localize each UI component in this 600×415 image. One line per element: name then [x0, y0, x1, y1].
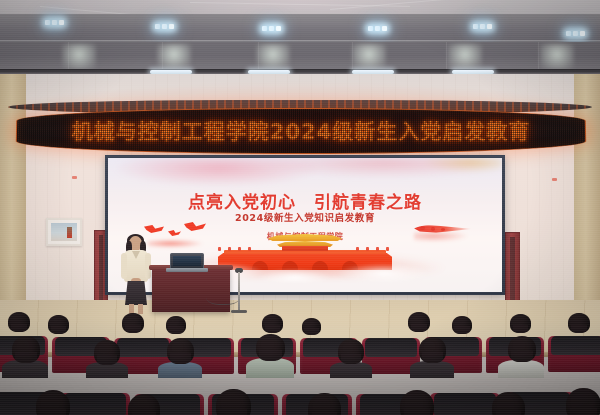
bird-shape	[144, 225, 164, 233]
audience-member	[36, 390, 70, 415]
audience-member	[510, 314, 531, 333]
bird-splash	[148, 239, 204, 248]
ceiling-spotlight-icon	[473, 24, 492, 29]
audience-shoulders	[330, 362, 372, 378]
side-door-right[interactable]	[505, 232, 520, 310]
door-inner-panel	[99, 235, 103, 303]
audience-member	[122, 313, 144, 333]
auditorium-seat[interactable]	[60, 393, 130, 415]
audience-member	[128, 394, 160, 415]
seat-back	[551, 336, 600, 355]
audience-member	[166, 316, 186, 334]
audience-member	[568, 313, 590, 333]
laptop-keyboard-base	[166, 268, 208, 272]
ceiling-spotlight-icon	[368, 26, 387, 31]
led-banner-text: 机械与控制工程学院2024级新生入党启发教育	[17, 116, 586, 146]
audience-member	[8, 312, 30, 332]
audience-member	[167, 338, 194, 364]
wall-wash-light	[157, 44, 191, 70]
auditorium-seat[interactable]	[430, 393, 500, 415]
audience-member	[302, 318, 321, 335]
auditorium-seat[interactable]	[548, 336, 600, 372]
audience-member	[338, 339, 364, 364]
audience-member	[256, 334, 285, 361]
audience-member	[308, 393, 341, 415]
seat-back	[434, 393, 496, 415]
wall-wash-light	[448, 44, 482, 70]
audience-member	[566, 388, 600, 415]
wall-wash-light	[352, 44, 386, 70]
gate-tower-body	[282, 246, 328, 251]
audience-member	[419, 337, 446, 363]
ribbon-dot	[420, 226, 425, 230]
wall-wash-light	[540, 44, 574, 70]
ribbon-dot	[441, 228, 445, 231]
wall-indicator-dot	[552, 178, 557, 181]
seat-back	[117, 338, 168, 357]
audience-shoulders	[246, 358, 294, 378]
audience-shoulders	[158, 362, 202, 378]
wall-slat	[538, 42, 539, 70]
wall-panel-image	[51, 223, 77, 241]
audience-member	[48, 315, 69, 334]
gate-tower	[268, 233, 342, 251]
ceiling-spotlight-icon	[155, 24, 174, 29]
auditorium-photo-scene: 机械与控制工程学院2024级新生入党启发教育 点亮入党初心 引航青春之路 202…	[0, 0, 600, 415]
audience-shoulders	[498, 360, 544, 378]
bird-shape	[168, 230, 181, 236]
tiananmen-gate-icon	[200, 230, 410, 282]
wall-indicator-dot	[72, 176, 77, 179]
wall-panel-object	[67, 227, 72, 238]
wall-wash-light	[62, 44, 96, 70]
ceiling-spotlight-icon	[45, 20, 64, 25]
wall-slat	[446, 42, 447, 70]
ribbon-dot	[431, 227, 435, 231]
ribbon-splash	[414, 232, 468, 242]
seat-back	[365, 338, 416, 357]
audience-member	[216, 389, 251, 415]
audience	[0, 300, 600, 415]
presenter-arm-left	[121, 253, 127, 279]
door-inner-panel	[510, 237, 515, 305]
led-banner: 机械与控制工程学院2024级新生入党启发教育	[16, 108, 587, 154]
audience-member	[400, 390, 434, 415]
audience-member	[262, 314, 283, 333]
audience-member	[508, 336, 536, 362]
ceiling-spotlight-icon	[262, 26, 281, 31]
wall-frame-panel	[46, 218, 82, 246]
audience-member	[408, 312, 430, 332]
laptop-icon[interactable]	[170, 253, 204, 269]
wall-wash-light	[256, 44, 290, 70]
audience-shoulders	[410, 361, 454, 378]
ceiling-spotlight-icon	[566, 31, 585, 36]
audience-member	[12, 336, 40, 363]
laptop-display	[173, 256, 201, 266]
gate-roof-upper	[268, 234, 342, 241]
seat-back	[64, 393, 126, 415]
red-flying-birds-icon	[144, 221, 208, 245]
audience-member	[452, 316, 472, 334]
red-ribbon-swirl-icon	[414, 222, 472, 238]
audience-member	[492, 392, 525, 415]
audience-member	[94, 340, 120, 365]
ceiling-soffit	[0, 14, 600, 42]
